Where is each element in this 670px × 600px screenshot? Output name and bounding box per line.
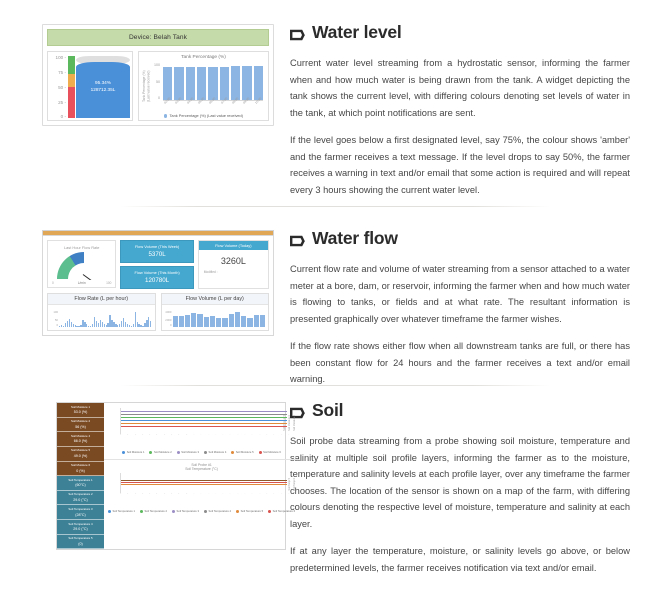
flag-icon	[290, 26, 305, 39]
flow-volume-chart-title: Flow Volume (L per day)	[162, 294, 269, 305]
legend-swatch	[236, 510, 239, 513]
chart-bar	[185, 315, 190, 327]
soil-metric-label: Soil Temperature 5	[58, 537, 103, 541]
xtick-label: 19:00	[259, 493, 263, 494]
legend-item[interactable]: Soil Moisture 6	[259, 451, 281, 454]
soil-temperature-series	[120, 473, 287, 493]
xtick-label: 06:00	[164, 493, 168, 494]
soil-body: Soil Soil probe data streaming from a pr…	[290, 400, 670, 587]
xtick-label: 10:00	[193, 493, 197, 494]
water-flow-body: Water flow Current flow rate and volume …	[290, 228, 670, 399]
soil-para-1: Soil probe data streaming from a probe s…	[290, 433, 630, 532]
flag-icon	[290, 232, 305, 245]
chart-bar	[150, 321, 151, 327]
soil-metric-label: Soil Temperature 2	[58, 493, 103, 497]
xtick-label: 03:00	[142, 493, 146, 494]
tank-tick: 75 -	[58, 70, 66, 75]
chart-bar	[254, 315, 259, 327]
xtick-label: 13:00	[215, 493, 219, 494]
legend-swatch	[140, 510, 143, 513]
legend-item[interactable]: Soil Moisture 3	[177, 451, 199, 454]
tank-chart-legend: Tank Percentage (%) (Last value received…	[139, 113, 268, 118]
soil-metric-label: Soil Moisture 5	[58, 449, 103, 453]
tank-readout: 95.34% 128712.35L	[76, 80, 130, 94]
legend-item[interactable]: Soil Temperature 3	[172, 510, 199, 513]
chart-bar	[204, 317, 209, 327]
flow-rate-chart-title: Flow Rate (L per hour)	[48, 294, 155, 305]
series-line	[121, 414, 287, 415]
xtick-label: 18:00	[251, 493, 255, 494]
xtick-label: 18:00	[251, 434, 255, 435]
soil-temperature-panel[interactable]: Soil Probe #1 Soil Temperature (°C) Soil…	[104, 460, 299, 518]
legend-item[interactable]: Soil Temperature 4	[204, 510, 231, 513]
page-root: Device: Belah Tank 100 - 75 - 50 - 25 - …	[0, 0, 670, 600]
soil-metric-tile[interactable]: Soil Moisture 466.0 (%)	[57, 432, 104, 447]
legend-item[interactable]: Soil Temperature 1	[108, 510, 135, 513]
xtick-label: 06:00	[164, 434, 168, 435]
series-line	[121, 484, 287, 485]
water-flow-para-1: Current flow rate and volume of water st…	[290, 261, 630, 327]
legend-swatch	[231, 451, 234, 454]
soil-chart-area: Soil Moisture 5 Soil Moisture 6 Soil Moi…	[104, 403, 299, 549]
legend-swatch	[149, 451, 152, 454]
xtick-label: 10:00	[193, 434, 197, 435]
chart-bar	[241, 316, 246, 327]
chart-bar	[231, 66, 240, 100]
xtick-label: 04:00	[149, 493, 153, 494]
chart-bar	[186, 67, 195, 100]
xtick-label: 07:00	[171, 434, 175, 435]
ytick: 100	[154, 63, 160, 67]
flow-kpi-column-left: Flow Volume (This Week) 5370L Flow Volum…	[120, 240, 193, 289]
tank-tick: 0 -	[61, 114, 66, 119]
xtick-label: 05:00	[156, 493, 160, 494]
kpi-flow-volume-week[interactable]: Flow Volume (This Week) 5370L	[120, 240, 193, 263]
soil-temperature-xaxis: 00:0001:0002:0003:0004:0005:0006:0007:00…	[120, 493, 295, 509]
water-level-media: Device: Belah Tank 100 - 75 - 50 - 25 - …	[0, 22, 290, 209]
tank-threshold-scale	[68, 56, 75, 118]
xtick-label: 20:00	[266, 493, 270, 494]
kpi-label: Flow Volume (Today)	[199, 241, 268, 250]
section-water-flow: Last Hour Flow Rate 0 100 L/min	[0, 228, 670, 399]
soil-metric-label: Soil Moisture 4	[58, 435, 103, 439]
gauge-title: Last Hour Flow Rate	[48, 241, 115, 250]
chart-bar	[220, 67, 229, 100]
chart-bar	[197, 314, 202, 327]
xtick-label: 01:00	[127, 493, 131, 494]
soil-title-text: Soil	[312, 400, 343, 421]
legend-swatch	[259, 451, 262, 454]
tank-percent-value: 95.34%	[95, 80, 111, 85]
xtick-label: 05:00	[156, 434, 160, 435]
xtick-label: 11:00	[200, 434, 204, 435]
flow-volume-chart[interactable]: Flow Volume (L per day) 4000 2000 0	[161, 293, 270, 331]
section-divider-2	[120, 385, 550, 386]
legend-swatch	[164, 114, 168, 118]
soil-metric-tile[interactable]: Soil Temperature 5(0)	[57, 535, 104, 550]
series-line	[121, 480, 287, 481]
water-flow-para-2: If the flow rate shows either flow when …	[290, 338, 630, 388]
xtick-label: 09:00	[186, 434, 190, 435]
soil-metric-value: 56 (%)	[58, 425, 103, 429]
xtick-label: 00:00	[120, 434, 124, 435]
soil-metric-tile[interactable]: Soil Temperature 429.0 (°C)	[57, 520, 104, 535]
soil-dashboard-widget[interactable]: Soil Moisture 153.0 (%)Soil Moisture 256…	[56, 402, 286, 550]
section-water-level: Device: Belah Tank 100 - 75 - 50 - 25 - …	[0, 22, 670, 209]
tank-chart-xlabels: 02:0003:0004:0005:0006:0007:0008:0009:00…	[163, 102, 263, 106]
soil-metric-tile[interactable]: Soil Temperature 3(28°C)	[57, 505, 104, 520]
soil-metric-tile[interactable]: Soil Moisture 60 (%)	[57, 462, 104, 477]
chart-bar	[197, 67, 206, 100]
soil-moisture-series	[120, 408, 287, 434]
ytick: 2000	[165, 318, 171, 322]
tank-body: 95.34% 128712.35L	[76, 56, 130, 118]
kpi-flow-volume-month[interactable]: Flow Volume (This Month) 120780L	[120, 266, 193, 289]
soil-metric-label: Soil Temperature 4	[58, 523, 103, 527]
chart-bar	[242, 66, 251, 100]
xtick-label: 03:00	[142, 434, 146, 435]
ytick: 0	[158, 96, 160, 100]
xtick-label: 02:00	[135, 434, 139, 435]
kpi-label: Flow Volume (This Week)	[122, 244, 191, 249]
soil-metric-value: 49.0 (%)	[58, 454, 103, 458]
soil-metric-value: (0)	[58, 542, 103, 546]
soil-temperature-subtitle: Soil Temperature (°C)	[108, 467, 295, 471]
xtick-label: 08:00	[178, 434, 182, 435]
chart-bar	[216, 318, 221, 327]
legend-item[interactable]: Soil Temperature 2	[140, 510, 167, 513]
tank-device-header: Device: Belah Tank	[47, 29, 269, 46]
soil-metric-tile[interactable]: Soil Moisture 153.0 (%)	[57, 403, 104, 418]
soil-metric-value: 29.0 (°C)	[58, 498, 103, 502]
soil-metric-value: 0 (%)	[58, 469, 103, 473]
xtick-label: 23:00	[288, 493, 292, 494]
soil-tile-sidebar: Soil Moisture 153.0 (%)Soil Moisture 256…	[57, 403, 104, 549]
ytick: 100	[53, 310, 58, 314]
tank-chart-title: Tank Percentage (%)	[139, 52, 268, 60]
flow-rate-chart[interactable]: Flow Rate (L per hour) 100 50 0	[47, 293, 156, 331]
ytick: 50	[156, 80, 160, 84]
chart-bar	[229, 314, 234, 328]
legend-swatch	[122, 451, 125, 454]
kpi-value: 120780L	[122, 277, 191, 284]
xtick-label: 22:00	[281, 434, 285, 435]
soil-metric-value: (28°C)	[58, 513, 103, 517]
chart-bar	[235, 312, 240, 327]
tank-tick: 25 -	[58, 100, 66, 105]
water-level-para-2: If the level goes below a first designat…	[290, 132, 630, 198]
chart-bar	[163, 67, 172, 100]
chart-bar	[179, 316, 184, 327]
soil-para-2: If at any layer the temperature, moistur…	[290, 543, 630, 576]
water-level-body: Water level Current water level streamin…	[290, 22, 670, 209]
right-axis-label: Soil Temp 5	[288, 478, 291, 490]
legend-item[interactable]: Soil Temperature 6	[268, 510, 295, 513]
kpi-flow-volume-today[interactable]: Flow Volume (Today) 3260L Modified :	[198, 240, 269, 289]
chart-bar	[174, 67, 183, 100]
tank-percentage-chart[interactable]: Tank Percentage (%) Tank Percentage (%) …	[138, 51, 269, 121]
series-line	[121, 420, 287, 421]
kpi-modified-label: Modified :	[199, 270, 268, 274]
xtick-label: 04:00	[149, 434, 153, 435]
xtick-label: 12:00	[208, 434, 212, 435]
tank-volume-value: 128712.35L	[91, 87, 116, 92]
tank-tick: 100 -	[56, 55, 66, 60]
xtick-label: 17:00	[244, 493, 248, 494]
xtick-label: 16:00	[237, 434, 241, 435]
flow-volume-bars	[173, 310, 266, 327]
gauge-unit-label: L/min	[48, 281, 115, 285]
soil-metric-tile[interactable]: Soil Temperature 1(60°C)	[57, 476, 104, 491]
series-line	[121, 423, 287, 424]
xtick-label: 13:00	[215, 434, 219, 435]
xtick-label: 23:00	[288, 434, 292, 435]
legend-swatch	[108, 510, 111, 513]
series-line	[121, 482, 287, 483]
legend-swatch	[172, 510, 175, 513]
legend-label: Tank Percentage (%) (Last value received…	[169, 113, 243, 118]
soil-metric-label: Soil Moisture 6	[58, 464, 103, 468]
flow-kpi-column-right: Flow Volume (Today) 3260L Modified :	[198, 240, 269, 289]
xtick-label: 15:00	[229, 434, 233, 435]
kpi-value: 3260L	[199, 256, 268, 266]
series-line	[121, 411, 287, 412]
chart-bar	[247, 318, 252, 327]
xtick-label: 12:00	[208, 493, 212, 494]
soil-metric-label: Soil Moisture 2	[58, 420, 103, 424]
soil-moisture-legend: Soil Moisture 1Soil Moisture 2Soil Moist…	[108, 450, 295, 456]
ytick: 0	[56, 323, 58, 327]
section-divider-1	[120, 206, 550, 207]
soil-temperature-legend: Soil Temperature 1Soil Temperature 2Soil…	[108, 509, 295, 515]
xtick-label: 20:00	[266, 434, 270, 435]
flow-dashboard-widget[interactable]: Last Hour Flow Rate 0 100 L/min	[42, 230, 274, 336]
xtick-label: 21:00	[273, 434, 277, 435]
tank-axis: 100 - 75 - 50 - 25 - 0 -	[50, 55, 67, 119]
xtick-label: 19:00	[259, 434, 263, 435]
legend-item[interactable]: Soil Moisture 5	[231, 451, 253, 454]
flow-volume-yticks: 4000 2000 0	[164, 310, 172, 327]
tank-tick: 50 -	[58, 85, 66, 90]
xtick-label: 07:00	[171, 493, 175, 494]
legend-swatch	[268, 510, 271, 513]
soil-metric-label: Soil Temperature 3	[58, 508, 103, 512]
water-flow-media: Last Hour Flow Rate 0 100 L/min	[0, 228, 290, 399]
xtick-label: 01:00	[127, 434, 131, 435]
legend-swatch	[177, 451, 180, 454]
tank-chart-yticks: 100 50 0	[151, 63, 161, 101]
flow-rate-bars	[59, 310, 152, 327]
legend-item[interactable]: Soil Moisture 2	[149, 451, 171, 454]
kpi-value: 5370L	[122, 251, 191, 258]
series-line	[121, 417, 287, 418]
chart-bar	[222, 318, 227, 327]
soil-moisture-panel[interactable]: Soil Moisture 5 Soil Moisture 6 Soil Moi…	[104, 403, 299, 460]
xtick-label: 14:00	[222, 434, 226, 435]
xtick-label: 02:00	[135, 493, 139, 494]
tank-level-gauge[interactable]: 100 - 75 - 50 - 25 - 0 -	[47, 51, 133, 121]
xtick-label: 17:00	[244, 434, 248, 435]
soil-metric-tile[interactable]: Soil Moisture 549.0 (%)	[57, 447, 104, 462]
water-flow-title: Water flow	[290, 228, 630, 249]
soil-metric-value: 29.0 (°C)	[58, 527, 103, 531]
ytick: 4000	[165, 310, 171, 314]
threshold-red-band	[68, 87, 75, 118]
soil-metric-value: 66.0 (%)	[58, 439, 103, 443]
flow-rate-yticks: 100 50 0	[50, 310, 58, 327]
legend-item[interactable]: Soil Moisture 1	[122, 451, 144, 454]
xtick-label: 21:00	[273, 493, 277, 494]
right-axis-label: Soil Moisture 4	[293, 415, 296, 431]
xtick-label: 16:00	[237, 493, 241, 494]
xtick-label: 11:00	[200, 493, 204, 494]
ytick: 50	[55, 318, 58, 322]
water-level-title-text: Water level	[312, 22, 402, 43]
soil-media: Soil Moisture 153.0 (%)Soil Moisture 256…	[0, 400, 290, 587]
legend-swatch	[204, 451, 207, 454]
chart-bar	[254, 66, 263, 100]
soil-metric-value: (60°C)	[58, 483, 103, 487]
legend-swatch	[204, 510, 207, 513]
tank-dashboard-widget[interactable]: Device: Belah Tank 100 - 75 - 50 - 25 - …	[42, 24, 274, 126]
soil-metric-tile[interactable]: Soil Moisture 256 (%)	[57, 418, 104, 433]
chart-bar	[191, 313, 196, 327]
xtick-label: 22:00	[281, 493, 285, 494]
xtick-label: 15:00	[229, 493, 233, 494]
soil-metric-label: Soil Temperature 1	[58, 479, 103, 483]
soil-metric-label: Soil Moisture 1	[58, 406, 103, 410]
threshold-amber-band	[68, 74, 75, 87]
xtick-label: 14:00	[222, 493, 226, 494]
legend-item[interactable]: Soil Temperature 5	[236, 510, 263, 513]
chart-bar	[260, 315, 265, 327]
right-axis-label: Soil Temp 6	[293, 478, 296, 490]
gauge-arc-wrap	[57, 252, 111, 280]
water-level-para-1: Current water level streaming from a hyd…	[290, 55, 630, 121]
ytick: 0	[170, 323, 172, 327]
soil-metric-tile[interactable]: Soil Temperature 229.0 (°C)	[57, 491, 104, 506]
chart-bar	[173, 316, 178, 327]
water-level-title: Water level	[290, 22, 630, 43]
series-line	[121, 426, 287, 427]
soil-temperature-right-labels: Soil Temp 5 Soil Temp 6	[288, 478, 296, 490]
kpi-label: Flow Volume (This Month)	[122, 270, 191, 275]
chart-bar	[210, 316, 215, 327]
soil-metric-value: 53.0 (%)	[58, 410, 103, 414]
water-flow-title-text: Water flow	[312, 228, 398, 249]
xtick-label: 09:00	[186, 493, 190, 494]
soil-moisture-xaxis: 00:0001:0002:0003:0004:0005:0006:0007:00…	[120, 434, 295, 450]
soil-title: Soil	[290, 400, 630, 421]
xtick-label: 08:00	[178, 493, 182, 494]
chart-bar	[208, 67, 217, 100]
tank-chart-ylabel: Tank Percentage (%) (Last value received…	[142, 68, 151, 102]
xtick-label: 00:00	[120, 493, 124, 494]
legend-item[interactable]: Soil Moisture 4	[204, 451, 226, 454]
threshold-green-band	[68, 56, 75, 74]
right-axis-label: Soil Moisture 6	[288, 415, 291, 431]
section-soil: Soil Moisture 153.0 (%)Soil Moisture 256…	[0, 400, 670, 587]
flow-rate-gauge[interactable]: Last Hour Flow Rate 0 100 L/min	[47, 240, 116, 288]
